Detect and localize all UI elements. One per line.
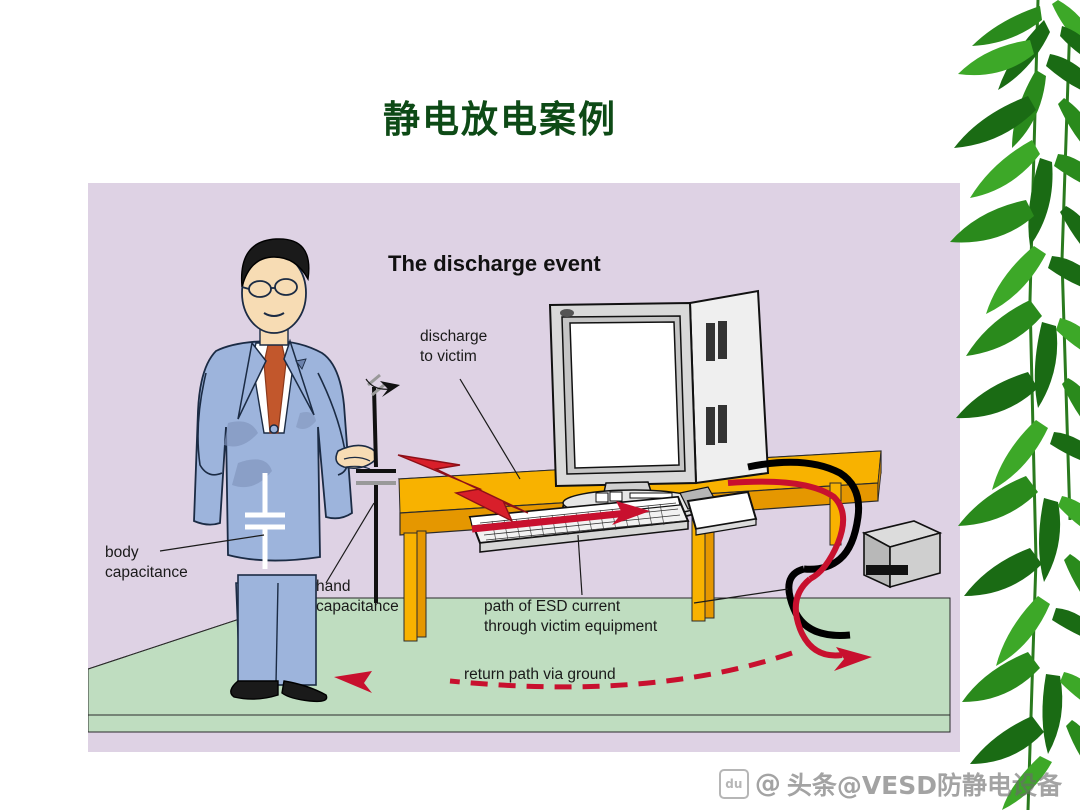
annotation-body-line2: capacitance <box>105 564 188 581</box>
annotation-hand-line2: capacitance <box>316 598 399 615</box>
annotation-hand-line1: hand <box>316 578 350 595</box>
annotation-esd-line2: through victim equipment <box>484 618 658 635</box>
annotation-esd-line1: path of ESD current <box>484 598 621 615</box>
watermark-text: 头条@VESD防静电设备 <box>787 766 1062 802</box>
annotation-discharge-line2: to victim <box>420 348 477 365</box>
watermark: du @ 头条@VESD防静电设备 <box>719 766 1062 802</box>
annotation-discharge-line1: discharge <box>420 328 487 345</box>
baidu-logo-icon: du <box>719 769 749 799</box>
illustration-panel: The discharge event discharge to victim … <box>88 183 960 752</box>
at-symbol-icon: @ <box>755 769 781 799</box>
esd-diagram: The discharge event discharge to victim … <box>88 183 960 752</box>
annotation-return-path: return path via ground <box>464 666 616 683</box>
monitor-screen <box>570 322 679 468</box>
diagram-heading: The discharge event <box>388 251 601 276</box>
bamboo-stems <box>1028 0 1070 810</box>
annotation-body-line1: body <box>105 544 139 561</box>
page-title: 静电放电案例 <box>0 100 1000 141</box>
